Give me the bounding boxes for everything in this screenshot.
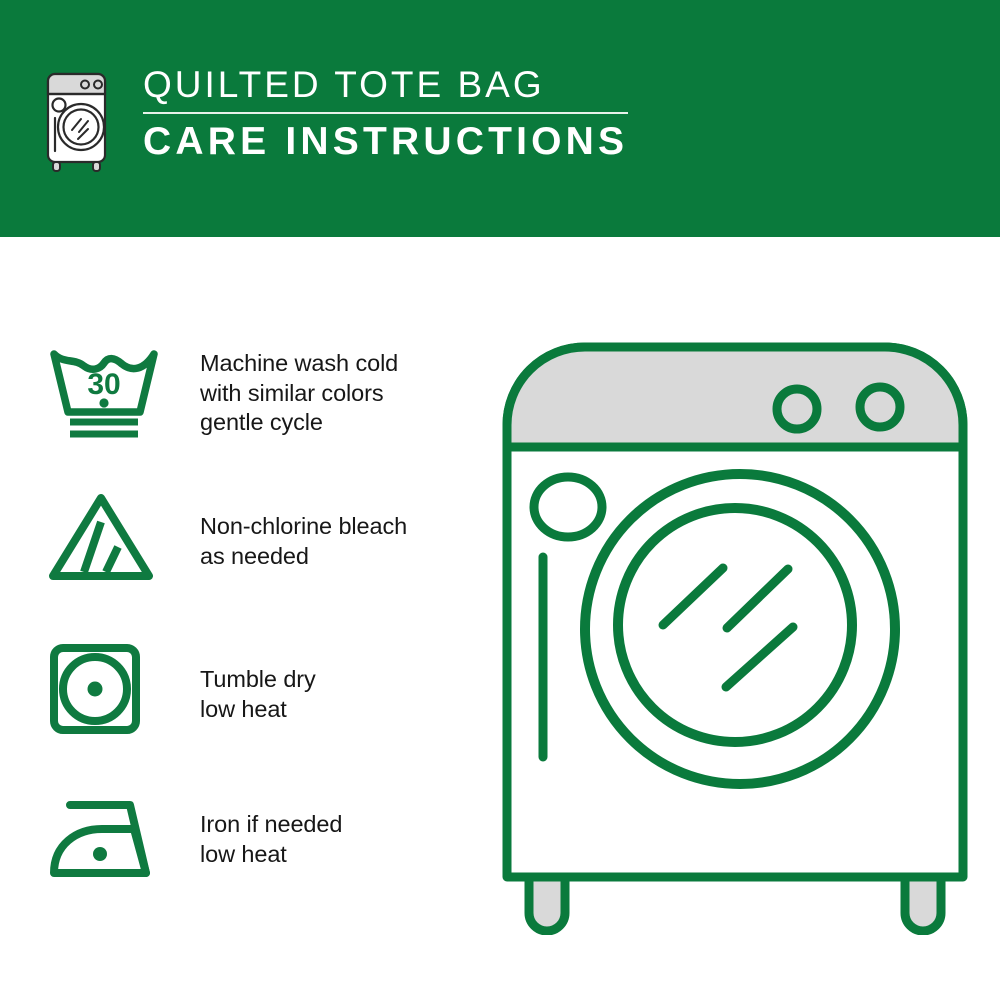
tumble-dry-low-heat-icon [48,642,160,734]
care-item-label-iron: Iron if needed low heat [200,810,342,869]
care-item-tumble-dry: Tumble dry low heat [48,642,316,734]
wash-tub-30-icon: 30 [48,344,160,440]
tumble-dry-square-icon [48,642,160,734]
non-chlorine-bleach-triangle-icon [48,492,160,584]
washing-machine-icon [44,70,110,174]
page-title-care-instructions: CARE INSTRUCTIONS [143,119,628,165]
title-divider [143,112,628,114]
page-title-product: QUILTED TOTE BAG [143,62,628,108]
care-item-label-tumble-dry: Tumble dry low heat [200,665,316,724]
washer-foot-right [905,877,941,931]
header-banner: QUILTED TOTE BAG CARE INSTRUCTIONS [0,0,1000,237]
wash-temperature-label: 30 [87,368,120,401]
machine-wash-cold-30-gentle-icon: 30 [48,344,160,440]
care-item-label-bleach: Non-chlorine bleach as needed [200,512,407,571]
care-instructions-page: QUILTED TOTE BAG CARE INSTRUCTIONS 30 [0,0,1000,1000]
care-item-machine-wash: 30 Machine wash cold with similar colors… [48,344,398,440]
washer-foot-left [529,877,565,931]
care-item-label-machine-wash: Machine wash cold with similar colors ge… [200,349,398,438]
header-title-block: QUILTED TOTE BAG CARE INSTRUCTIONS [143,62,628,165]
iron-icon [48,797,160,881]
bleach-triangle-icon [48,492,160,584]
care-item-iron: Iron if needed low heat [48,797,342,881]
header-content: QUILTED TOTE BAG CARE INSTRUCTIONS [44,62,628,174]
care-item-bleach: Non-chlorine bleach as needed [48,492,407,584]
iron-low-heat-icon [48,797,160,881]
front-load-washing-machine-illustration [485,325,985,935]
care-instruction-list: 30 Machine wash cold with similar colors… [0,237,470,1000]
